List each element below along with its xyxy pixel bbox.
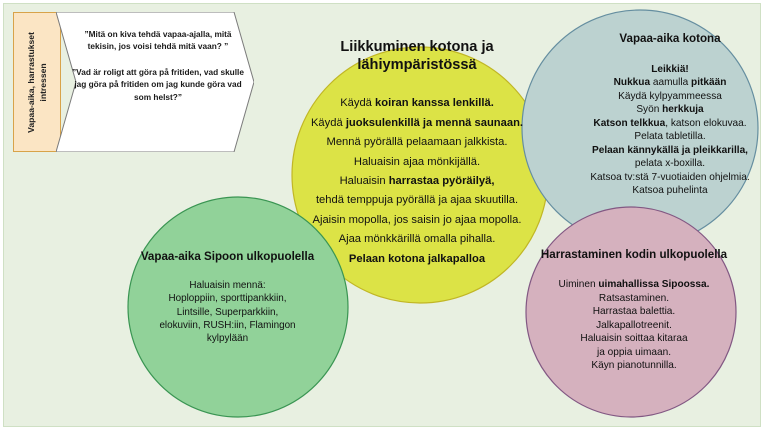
circle-green-text: Vapaa-aika Sipoon ulkopuolella Haluaisin… <box>120 250 335 346</box>
text-line: Käydä juoksulenkillä ja mennä saunaan. <box>292 117 542 131</box>
text-line: pelata x-boxilla. <box>575 158 765 170</box>
callout-text: ”Mitä on kiva tehdä vapaa-ajalla, mitä t… <box>70 28 246 103</box>
circle-pink-lines: Uiminen uimahallissa Sipoossa.Ratsastami… <box>528 279 740 372</box>
text-line: Katsoa tv:stä 7-vuotiaiden ohjelmia. <box>575 172 765 184</box>
text-line: Katson telkkua, katson elokuvaa. <box>575 118 765 130</box>
circle-blue-lines: Leikkiä!Nukkua aamulla pitkäänKäydä kylp… <box>575 64 765 198</box>
text-line: Ratsastaminen. <box>528 293 740 305</box>
text-line: Nukkua aamulla pitkään <box>575 77 765 89</box>
text-line: Leikkiä! <box>575 64 765 76</box>
side-label-line2: intressen <box>37 32 49 133</box>
text-line: Pelata tabletilla. <box>575 131 765 143</box>
circle-yellow-lines: Käydä koiran kanssa lenkillä.Käydä juoks… <box>292 97 542 266</box>
text-line: Haluaisin soittaa kitaraa <box>528 333 740 345</box>
text-line: Käyn pianotunnilla. <box>528 360 740 372</box>
text-line: Ajaisin mopolla, jos saisin jo ajaa mopo… <box>292 214 542 228</box>
text-line: Käydä koiran kanssa lenkillä. <box>292 97 542 111</box>
circle-blue-text: Vapaa-aika kotona Leikkiä!Nukkua aamulla… <box>575 32 765 199</box>
text-line: Harrastaa balettia. <box>528 306 740 318</box>
text-line: Haluaisin harrastaa pyöräilyä, <box>292 175 542 189</box>
callout-quote-sv: ”Vad är roligt att göra på fritiden, vad… <box>70 66 246 103</box>
circle-blue-title: Vapaa-aika kotona <box>575 32 765 46</box>
text-line: elokuviin, RUSH:iin, Flamingon <box>120 320 335 332</box>
side-label-line1: Vapaa-aika, harrastukset <box>25 32 37 133</box>
text-line: Uiminen uimahallissa Sipoossa. <box>528 279 740 291</box>
text-line: Katsoa puhelinta <box>575 185 765 197</box>
circle-pink-title: Harrastaminen kodin ulkopuolella <box>528 248 740 262</box>
text-line: kylpylään <box>120 333 335 345</box>
text-line: Lintsille, Superparkkiin, <box>120 307 335 319</box>
text-line: Pelaan kännykällä ja pleikkarilla, <box>575 145 765 157</box>
circle-yellow-title: Liikkuminen kotona ja lähiympäristössä <box>292 38 542 74</box>
text-line: Käydä kylpyammeessa <box>575 91 765 103</box>
text-line: Haluaisin ajaa mönkijällä. <box>292 156 542 170</box>
question-callout: ”Mitä on kiva tehdä vapaa-ajalla, mitä t… <box>56 12 254 152</box>
venn-diagram-slide: Liikkuminen kotona ja lähiympäristössä K… <box>0 0 768 432</box>
circle-green-title: Vapaa-aika Sipoon ulkopuolella <box>120 250 335 264</box>
text-line: ja oppia uimaan. <box>528 347 740 359</box>
text-line: Ajaa mönkkärillä omalla pihalla. <box>292 233 542 247</box>
text-line: Jalkapallotreenit. <box>528 320 740 332</box>
text-line: Hoploppiin, sporttipankkiin, <box>120 293 335 305</box>
text-line: Haluaisin mennä: <box>120 280 335 292</box>
text-line: Syön herkkuja <box>575 104 765 116</box>
side-label-vapaa-aika: Vapaa-aika, harrastukset intressen <box>13 12 61 152</box>
text-line: tehdä temppuja pyörällä ja ajaa skuutill… <box>292 194 542 208</box>
circle-yellow-text: Liikkuminen kotona ja lähiympäristössä K… <box>292 38 542 272</box>
callout-quote-fi: ”Mitä on kiva tehdä vapaa-ajalla, mitä t… <box>70 28 246 53</box>
circle-pink-text: Harrastaminen kodin ulkopuolella Uiminen… <box>528 248 740 374</box>
text-line: Mennä pyörällä pelaamaan jalkkista. <box>292 136 542 150</box>
circle-green-lines: Haluaisin mennä:Hoploppiin, sporttipankk… <box>120 280 335 345</box>
side-label-text: Vapaa-aika, harrastukset intressen <box>25 32 50 133</box>
